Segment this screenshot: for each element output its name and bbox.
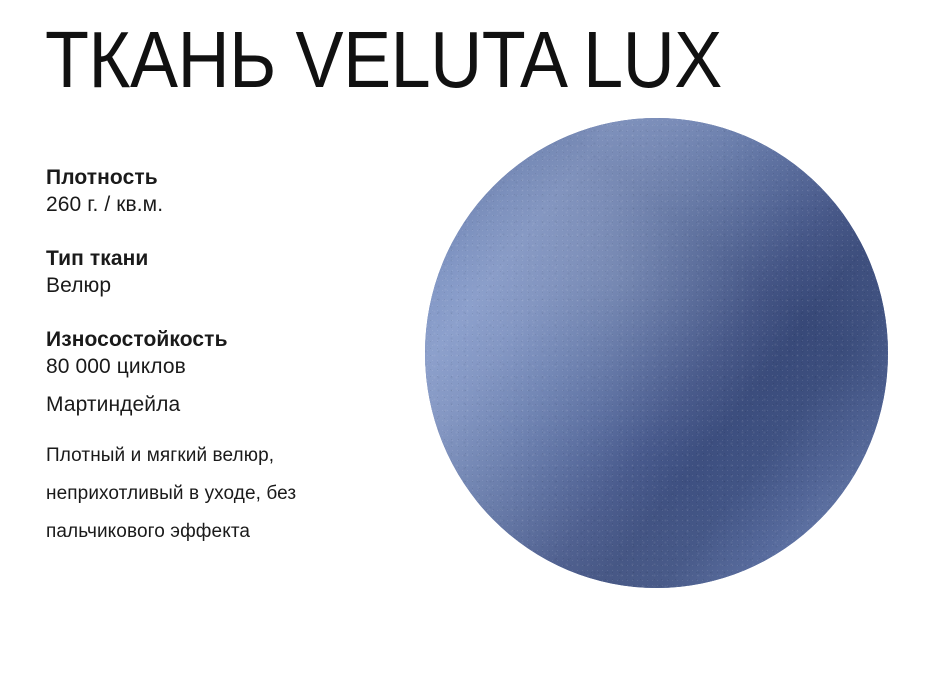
page-title: ТКАНЬ VELUTA LUX [45,16,722,104]
spec-item-density: Плотность 260 г. / кв.м. [46,164,416,219]
spec-item-durability: Износостойкость 80 000 циклов Мартиндейл… [46,326,416,419]
fabric-swatch-image [425,118,888,588]
swatch-vignette [425,118,888,588]
spec-item-fabric-type: Тип ткани Велюр [46,245,416,300]
spec-label-density: Плотность [46,164,416,191]
description-text: Плотный и мягкий велюр, неприхотливый в … [46,437,411,551]
spec-value-durability-cycles: 80 000 циклов [46,353,416,381]
spec-label-durability: Износостойкость [46,326,416,353]
spec-value-durability-standard: Мартиндейла [46,391,416,419]
spec-value-density: 260 г. / кв.м. [46,191,416,219]
fabric-spec-card: ТКАНЬ VELUTA LUX Плотность 260 г. / кв.м… [0,0,934,700]
spec-list: Плотность 260 г. / кв.м. Тип ткани Велюр… [46,164,416,551]
spec-value-fabric-type: Велюр [46,272,416,300]
spec-label-fabric-type: Тип ткани [46,245,416,272]
